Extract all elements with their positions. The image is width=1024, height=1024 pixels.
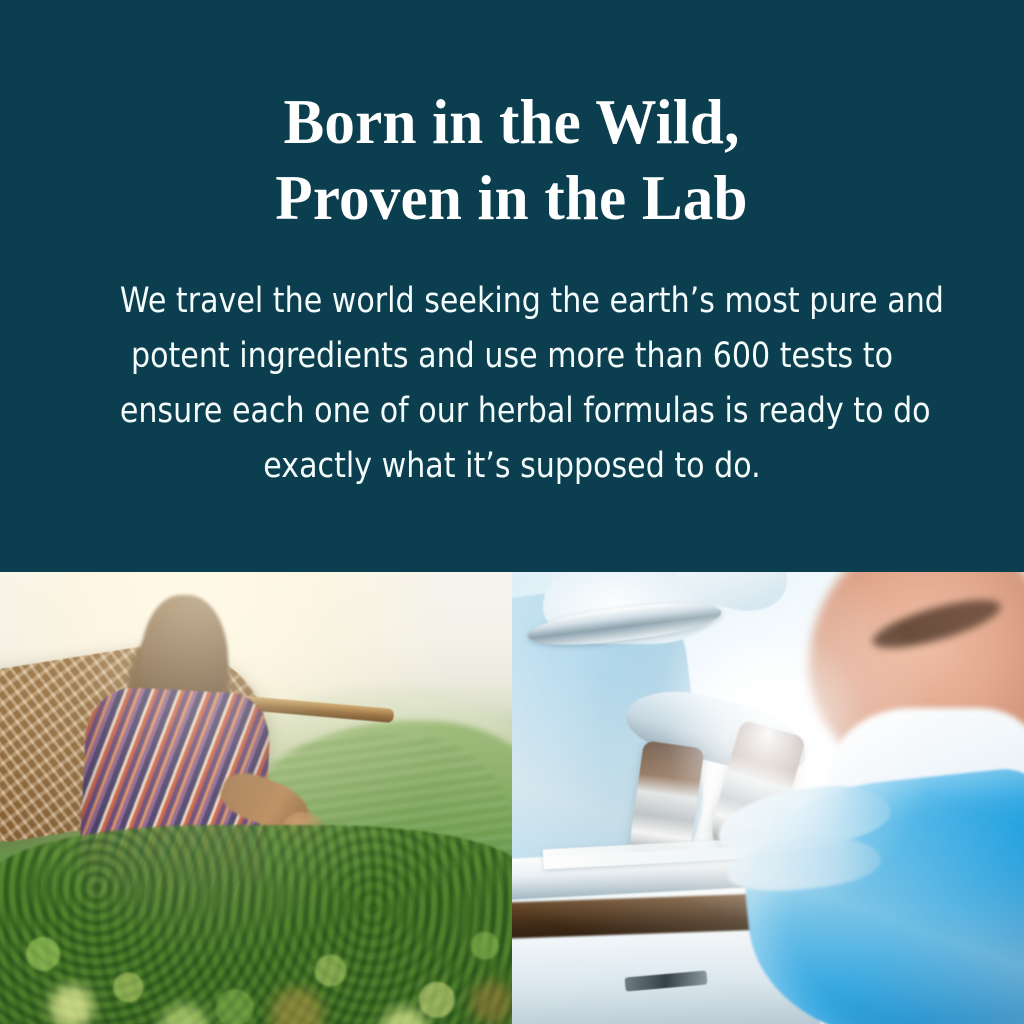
text-panel: Born in the Wild, Proven in the Lab We t… <box>0 0 1024 572</box>
photo-strip <box>0 572 1024 1024</box>
headline-line-2: Proven in the Lab <box>276 160 748 236</box>
subcopy: We travel the world seeking the earth’s … <box>120 274 904 494</box>
subcopy-line-1: We travel the world seeking the earth’s … <box>120 274 904 329</box>
promo-card: Born in the Wild, Proven in the Lab We t… <box>0 0 1024 1024</box>
lab-microscope-photo <box>512 572 1024 1024</box>
headline: Born in the Wild, Proven in the Lab <box>276 84 748 236</box>
tea-harvest-photo <box>0 572 512 1024</box>
subcopy-line-4: exactly what it’s supposed to do. <box>120 439 904 494</box>
foreground-bokeh <box>0 925 512 1024</box>
subcopy-line-3: ensure each one of our herbal formulas i… <box>120 384 904 439</box>
headline-line-1: Born in the Wild, <box>276 84 748 160</box>
subcopy-line-2: potent ingredients and use more than 600… <box>120 329 904 384</box>
